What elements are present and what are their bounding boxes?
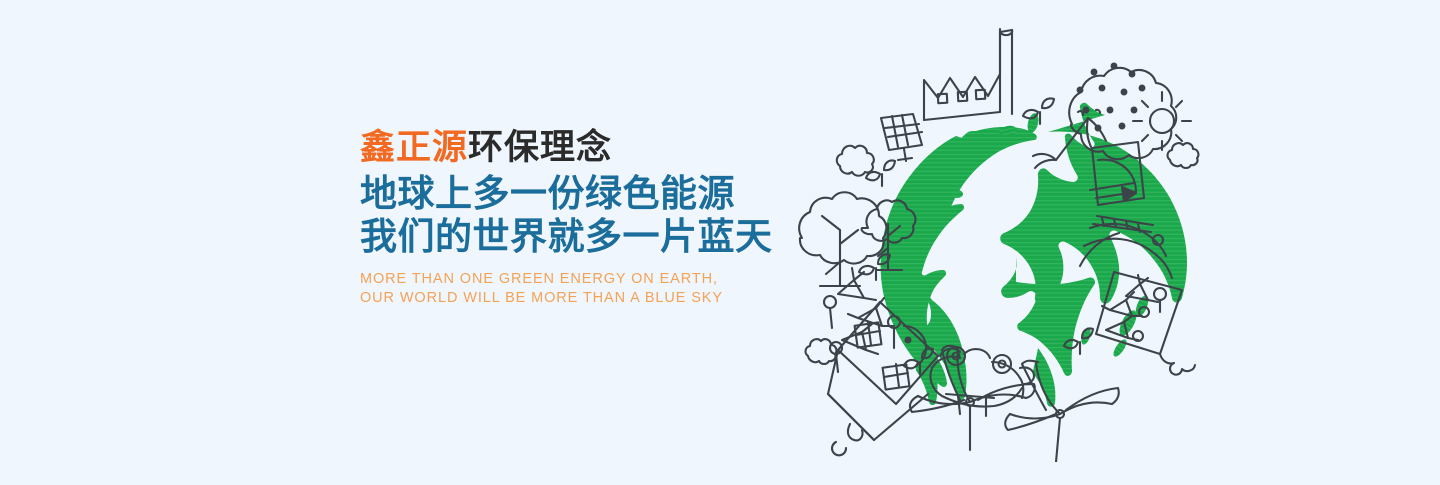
factory-icon — [924, 29, 1012, 120]
sprout-icon — [866, 160, 895, 186]
sun-icon — [1133, 92, 1191, 150]
headline: 鑫正源环保理念 — [360, 128, 780, 168]
slogan-block: 鑫正源环保理念 地球上多一份绿色能源 我们的世界就多一片蓝天 MORE THAN… — [360, 128, 780, 308]
headline-suffix: 环保理念 — [468, 128, 612, 168]
flower-icon — [824, 268, 876, 328]
tree-with-fruit-icon — [1033, 64, 1176, 168]
cloud-icon — [1168, 143, 1199, 168]
cloud-icon — [837, 146, 874, 176]
solar-panel-icon — [881, 114, 922, 161]
wind-turbine-icon — [1005, 361, 1119, 462]
slogan-line-1: 地球上多一份绿色能源 — [360, 173, 780, 214]
eco-banner: 鑫正源环保理念 地球上多一份绿色能源 我们的世界就多一片蓝天 MORE THAN… — [0, 0, 1440, 485]
english-line-2: OUR WORLD WILL BE MORE THAN A BLUE SKY — [360, 289, 780, 308]
eco-globe-illustration — [780, 18, 1224, 462]
sprout-icon — [1023, 98, 1054, 124]
brand-name: 鑫正源 — [360, 128, 468, 168]
slogan-line-2: 我们的世界就多一片蓝天 — [360, 216, 780, 257]
english-slogan-block: MORE THAN ONE GREEN ENERGY ON EARTH, OUR… — [360, 270, 780, 308]
english-line-1: MORE THAN ONE GREEN ENERGY ON EARTH, — [360, 270, 780, 289]
